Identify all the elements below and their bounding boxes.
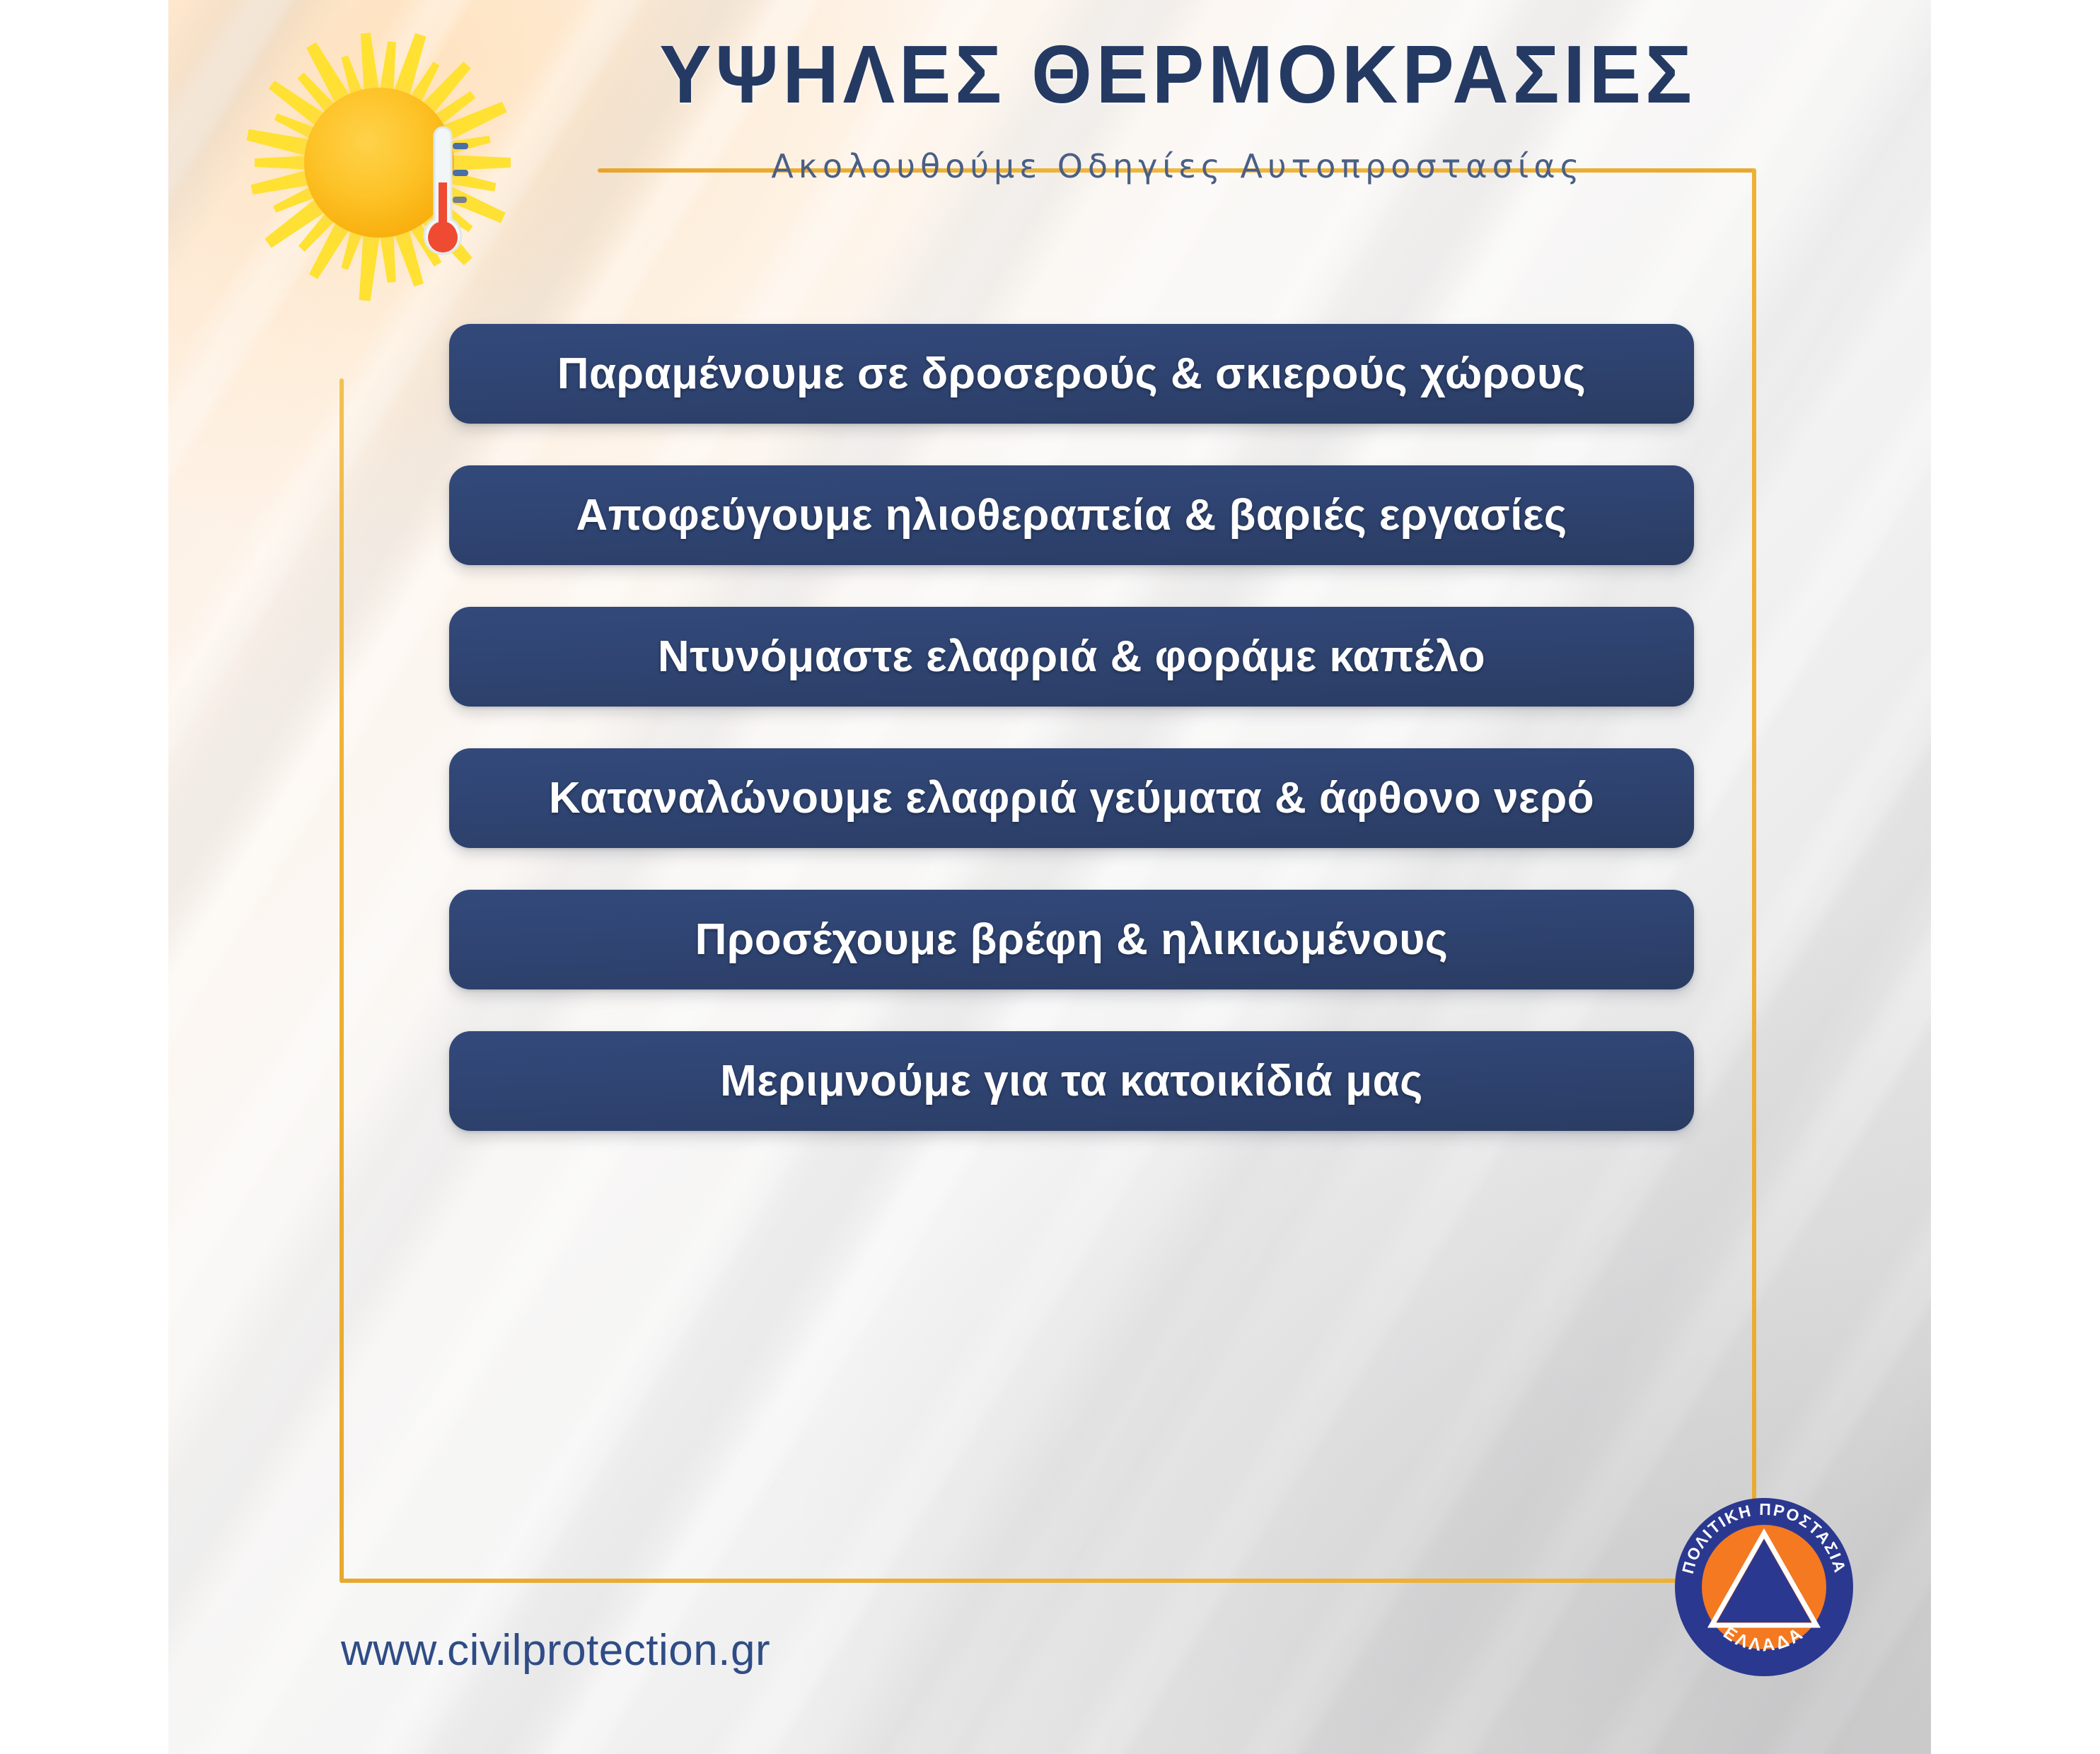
sun-with-thermometer-icon — [225, 20, 522, 303]
advice-item-4[interactable]: Καταναλώνουμε ελαφριά γεύματα & άφθονο ν… — [449, 748, 1694, 848]
advice-label: Μεριμνούμε για τα κατοικίδιά μας — [720, 1056, 1423, 1106]
civil-protection-logo: ΠΟΛΙΤΙΚΗ ΠΡΟΣΤΑΣΙΑ ΕΛΛΑΔΑ — [1668, 1491, 1860, 1683]
website-url-link[interactable]: www.civilprotection.gr — [341, 1625, 770, 1675]
page-subtitle: Ακολουθούμε Οδηγίες Αυτοπροστασίας — [608, 147, 1747, 185]
frame-line-right — [1752, 168, 1756, 1583]
advice-label: Αποφεύγουμε ηλιοθεραπεία & βαριές εργασί… — [576, 490, 1567, 540]
advice-item-6[interactable]: Μεριμνούμε για τα κατοικίδιά μας — [449, 1031, 1694, 1131]
advice-item-3[interactable]: Ντυνόμαστε ελαφριά & φοράμε καπέλο — [449, 607, 1694, 707]
advice-item-5[interactable]: Προσέχουμε βρέφη & ηλικιωμένους — [449, 890, 1694, 989]
poster-canvas: ΥΨΗΛΕΣ ΘΕΡΜΟΚΡΑΣΙΕΣ Ακολουθούμε Οδηγίες … — [0, 0, 2100, 1754]
thermometer-icon — [420, 126, 475, 274]
advice-item-1[interactable]: Παραμένουμε σε δροσερούς & σκιερούς χώρο… — [449, 324, 1694, 424]
advice-item-2[interactable]: Αποφεύγουμε ηλιοθεραπεία & βαριές εργασί… — [449, 465, 1694, 565]
advice-label: Ντυνόμαστε ελαφριά & φοράμε καπέλο — [658, 632, 1485, 682]
advice-label: Παραμένουμε σε δροσερούς & σκιερούς χώρο… — [557, 349, 1586, 399]
page-title: ΥΨΗΛΕΣ ΘΕΡΜΟΚΡΑΣΙΕΣ — [637, 30, 1719, 120]
advice-list: Παραμένουμε σε δροσερούς & σκιερούς χώρο… — [449, 324, 1694, 1173]
header: ΥΨΗΛΕΣ ΘΕΡΜΟΚΡΑΣΙΕΣ Ακολουθούμε Οδηγίες … — [608, 30, 1747, 185]
frame-line-left — [340, 378, 344, 1583]
advice-label: Προσέχουμε βρέφη & ηλικιωμένους — [695, 914, 1449, 965]
advice-label: Καταναλώνουμε ελαφριά γεύματα & άφθονο ν… — [549, 773, 1594, 823]
frame-line-bottom — [340, 1579, 1756, 1583]
